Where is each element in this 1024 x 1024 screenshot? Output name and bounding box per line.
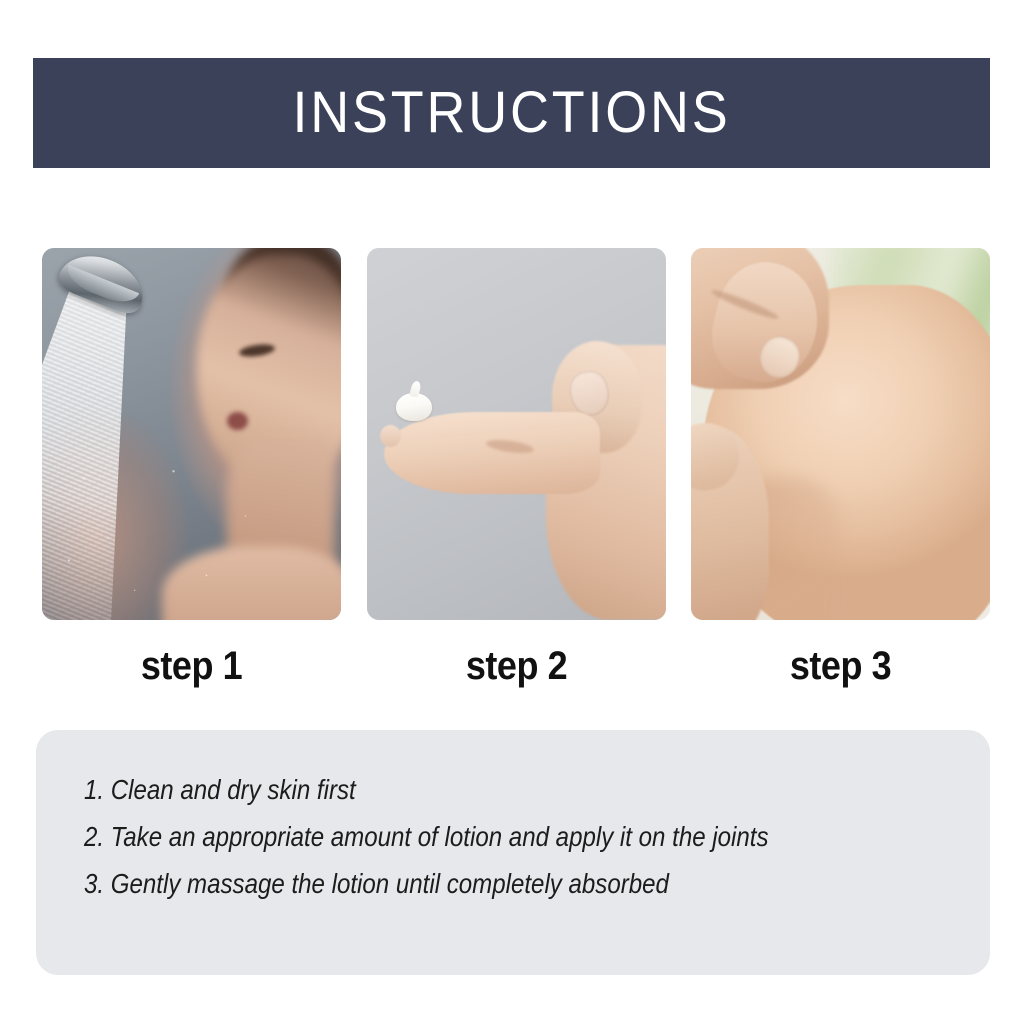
step-card-1 [42,248,341,620]
step-card-3 [691,248,990,620]
instructions-notes-box: 1. Clean and dry skin first 2. Take an a… [36,730,990,975]
index-fingernail-shape [380,425,401,447]
instruction-line-2: 2. Take an appropriate amount of lotion … [84,813,829,860]
instruction-line-1: 1. Clean and dry skin first [84,766,829,813]
index-finger-shape [384,412,599,494]
step-card-2 [367,248,666,620]
page-title: INSTRUCTIONS [292,84,730,142]
step-label-3: step 3 [706,638,975,698]
step-labels-row: step 1 step 2 step 3 [42,638,990,698]
shower-head-spraying-water-on-woman-face-image [42,248,341,620]
step-images-row [42,248,990,620]
step-label-1: step 1 [57,638,326,698]
water-droplets-shape [42,248,341,620]
lotion-dab-shape [396,393,432,421]
instructions-header-banner: INSTRUCTIONS [33,58,990,168]
instruction-line-3: 3. Gently massage the lotion until compl… [84,860,829,907]
hands-massaging-knee-joint-image [691,248,990,620]
finger-with-dab-of-lotion-image [367,248,666,620]
step-label-2: step 2 [381,638,650,698]
